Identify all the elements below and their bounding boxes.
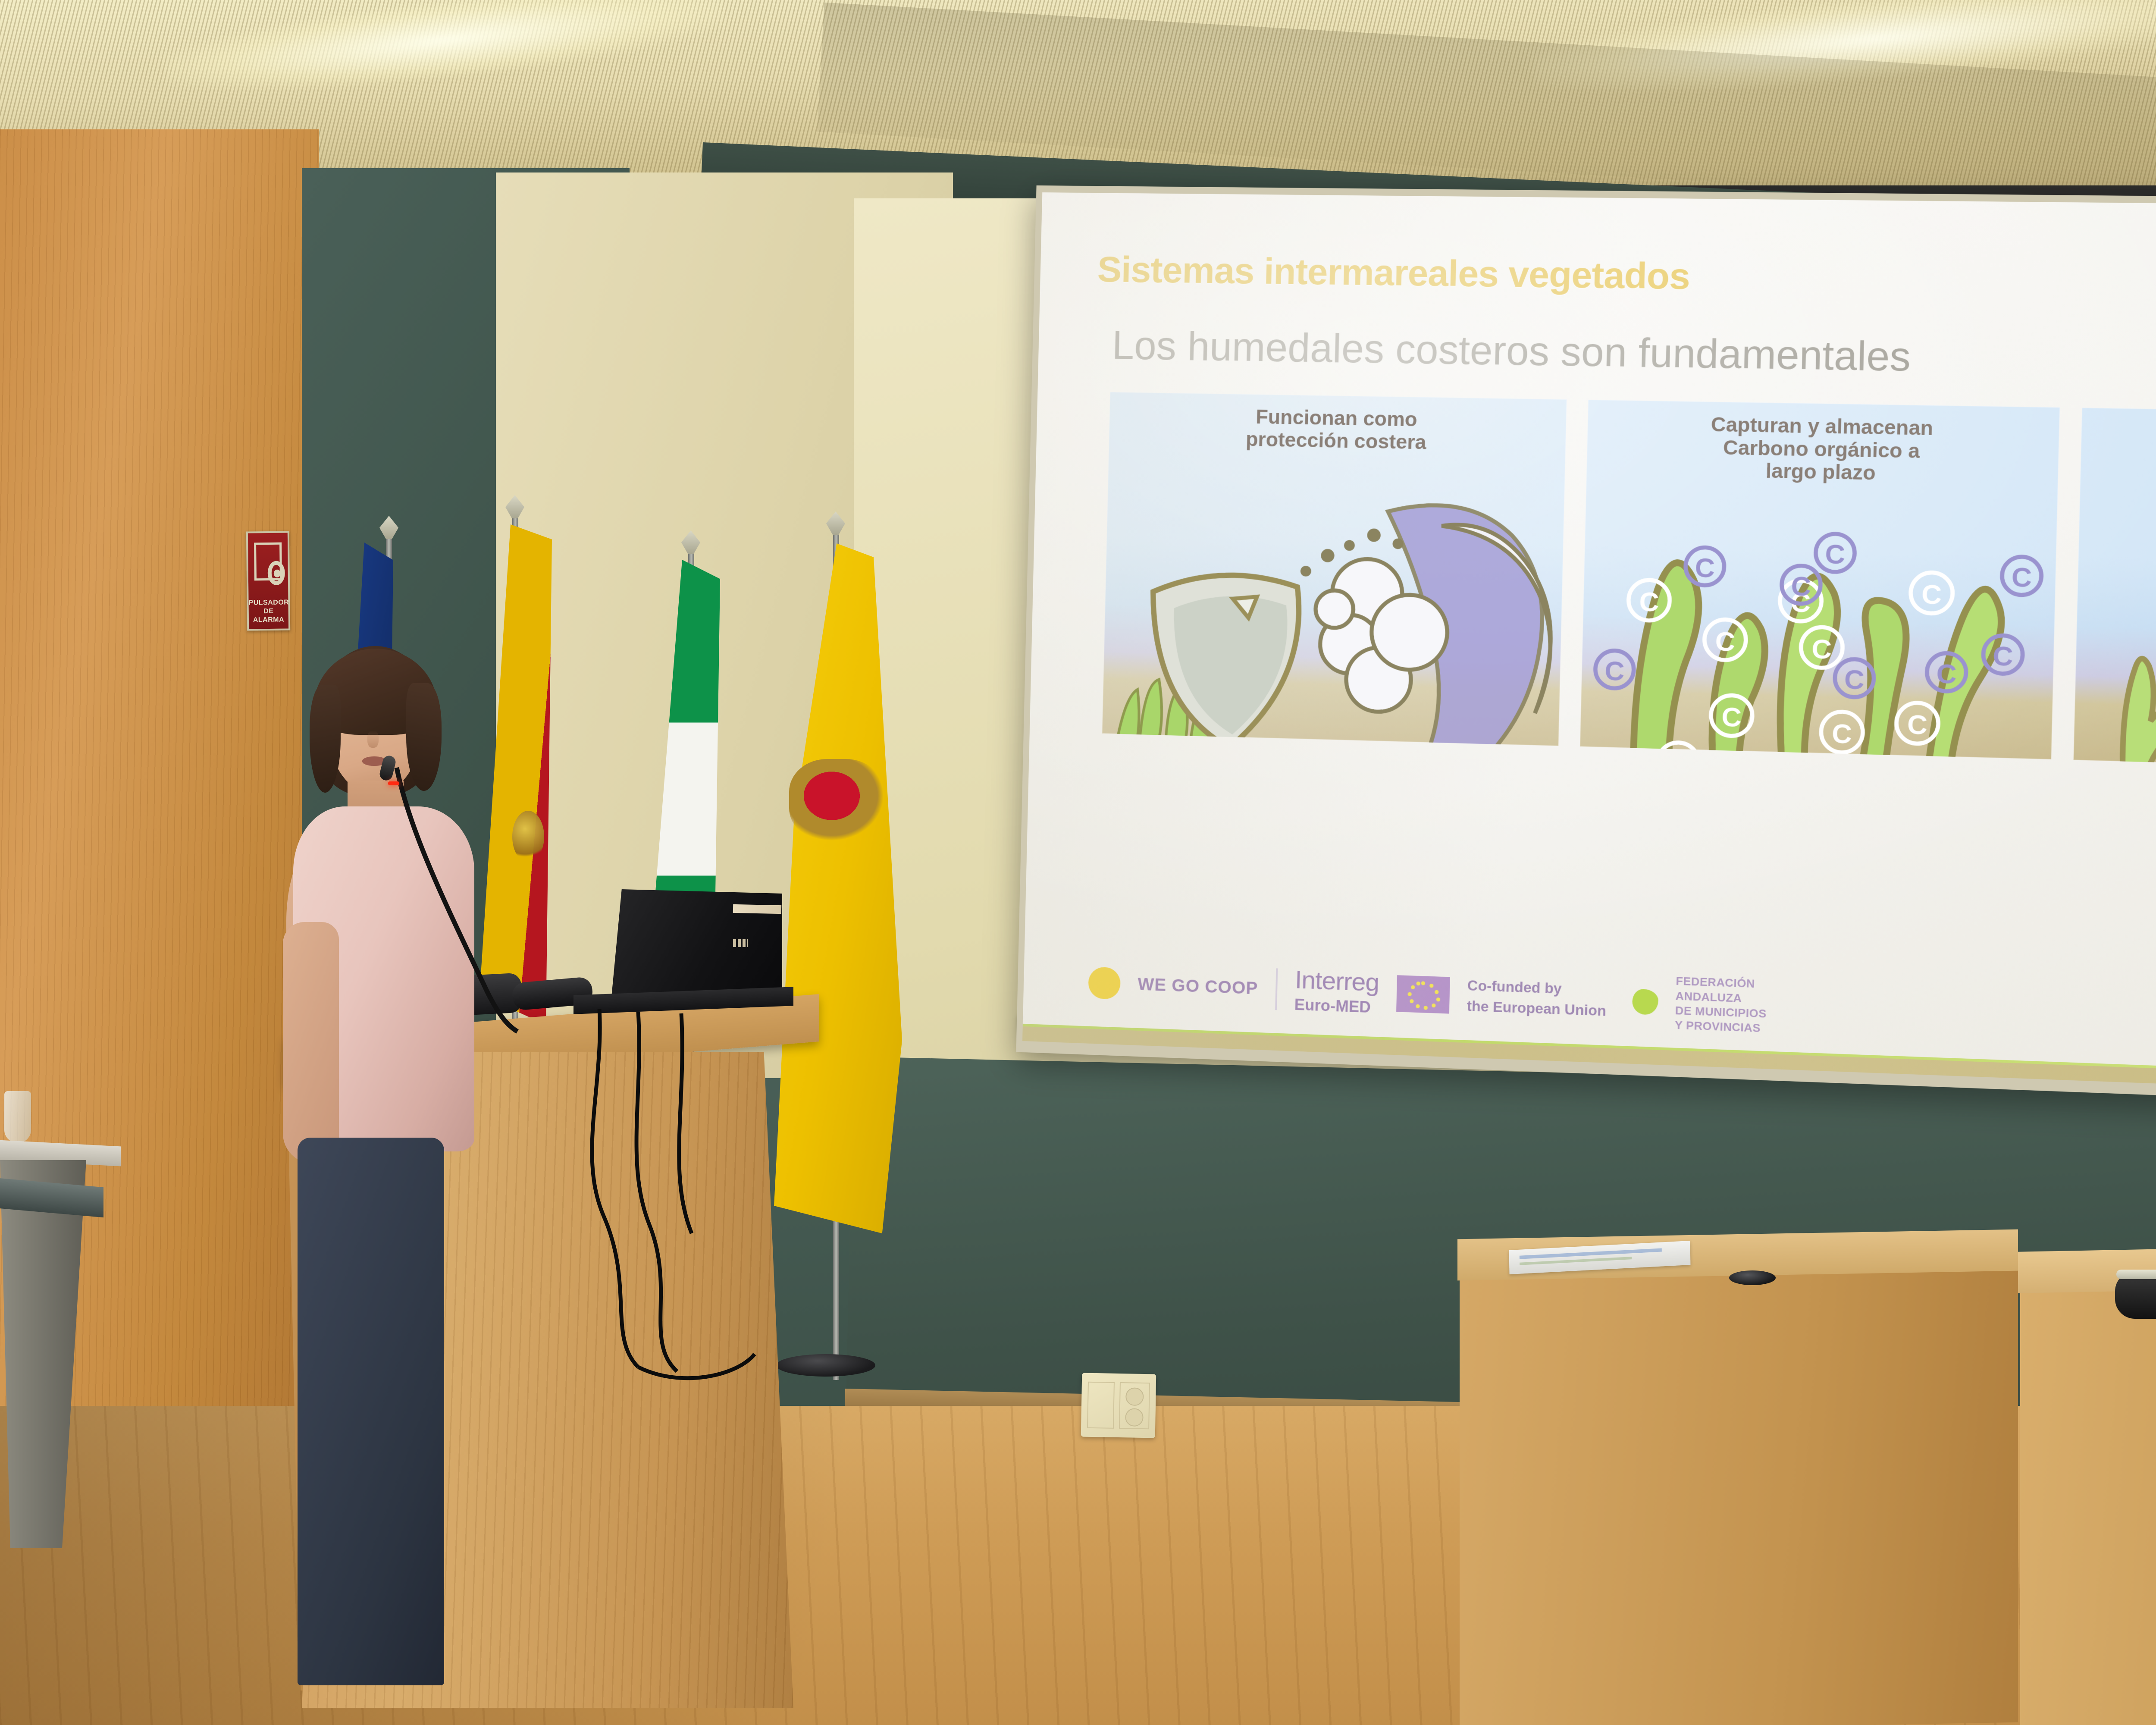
svg-text:C: C	[2011, 562, 2032, 593]
famp-logo: FEDERACIÓN ANDALUZA DE MUNICIPIOS Y PROV…	[1623, 972, 1767, 1036]
panel-biodiversity: Ayudan a mantener la diversidad	[2073, 408, 2156, 773]
footer-divider-1	[1275, 968, 1278, 1010]
eu-funding-line2: the European Union	[1467, 996, 1606, 1021]
svg-text:C: C	[1668, 749, 1689, 759]
famp-line4: Y PROVINCIAS	[1675, 1018, 1767, 1036]
presentation-table-right-body	[2020, 1276, 2156, 1725]
socket-group[interactable]	[1119, 1382, 1150, 1429]
conference-room-scene: PULSADOR DE ALARMA Sistemas intermareale…	[0, 0, 2156, 1725]
fire-alarm-sign: PULSADOR DE ALARMA	[246, 531, 290, 630]
lectern-microphone[interactable]	[379, 768, 561, 1035]
table-microphone-trim	[2116, 1270, 2156, 1279]
svg-text:C: C	[1604, 656, 1625, 687]
svg-text:C: C	[1832, 718, 1852, 749]
side-chair-seat	[0, 1176, 103, 1217]
svg-text:C: C	[1695, 553, 1715, 583]
light-switch-group[interactable]	[1087, 1382, 1115, 1429]
svg-text:C: C	[1825, 539, 1846, 570]
panel-coastal-protection: Funcionan como protección costera	[1102, 392, 1567, 746]
alarm-button-icon	[254, 543, 282, 581]
presentation-slide: Sistemas intermareales vegetados Los hum…	[1022, 192, 2156, 1101]
laptop-asset-label	[733, 904, 781, 914]
microphone-active-led	[388, 781, 399, 785]
alarm-sign-line2: DE ALARMA	[249, 607, 288, 625]
svg-text:C: C	[1721, 702, 1742, 733]
presenter-trousers	[298, 1138, 444, 1685]
table-puck-device[interactable]	[1729, 1270, 1776, 1285]
presenter-nose	[367, 731, 379, 748]
wegocoop-sun-icon	[1088, 966, 1121, 1000]
projection-screen: Sistemas intermareales vegetados Los hum…	[1016, 185, 2156, 1113]
european-union-flag-icon	[1396, 975, 1450, 1013]
svg-text:C: C	[1907, 709, 1928, 740]
svg-text:C: C	[1936, 659, 1957, 689]
svg-text:C: C	[1921, 579, 1942, 610]
presenter-hair-side-left	[310, 685, 341, 793]
svg-text:C: C	[1844, 665, 1865, 695]
power-outlet-plate[interactable]	[1081, 1373, 1156, 1438]
panel-carbon-capture: Capturan y almacenan Carbono orgánico a …	[1580, 400, 2059, 759]
ceiling-panel	[0, 0, 2156, 185]
socket-upper[interactable]	[1125, 1387, 1144, 1406]
alarm-sign-line1: PULSADOR	[248, 599, 288, 608]
presenter-arm-left	[283, 922, 339, 1164]
slide-panel-row: Funcionan como protección costera	[1102, 392, 2156, 773]
side-chair[interactable]	[0, 1182, 103, 1527]
svg-text:C: C	[1639, 586, 1660, 617]
drinking-glass[interactable]	[4, 1091, 31, 1143]
socket-lower[interactable]	[1125, 1408, 1144, 1427]
wegocoop-label: WE GO COOP	[1138, 975, 1258, 998]
interreg-logo: Interreg Euro-MED	[1294, 967, 1379, 1016]
cadiz-crown-emblem	[789, 759, 884, 841]
eu-funding-text: Co-funded by the European Union	[1467, 975, 1607, 1022]
lectern-cables	[552, 1009, 854, 1397]
slide-title: Sistemas intermareales vegetados	[1097, 248, 1690, 298]
svg-text:C: C	[1715, 626, 1736, 657]
laptop-brand-badge	[733, 939, 748, 947]
svg-text:C: C	[1811, 634, 1832, 665]
famp-mark-icon	[1624, 981, 1668, 1024]
ceiling-light-left	[162, 0, 727, 106]
famp-label: FEDERACIÓN ANDALUZA DE MUNICIPIOS Y PROV…	[1675, 974, 1767, 1036]
presentation-table-left-body	[1460, 1265, 2018, 1725]
interreg-sub-label: Euro-MED	[1294, 997, 1379, 1015]
slide-subtitle: Los humedales costeros son fundamentales	[1112, 323, 1912, 381]
svg-text:C: C	[1993, 641, 2014, 671]
interreg-main-label: Interreg	[1294, 967, 1379, 995]
svg-text:C: C	[1791, 571, 1811, 602]
eu-stars	[1396, 975, 1450, 1013]
